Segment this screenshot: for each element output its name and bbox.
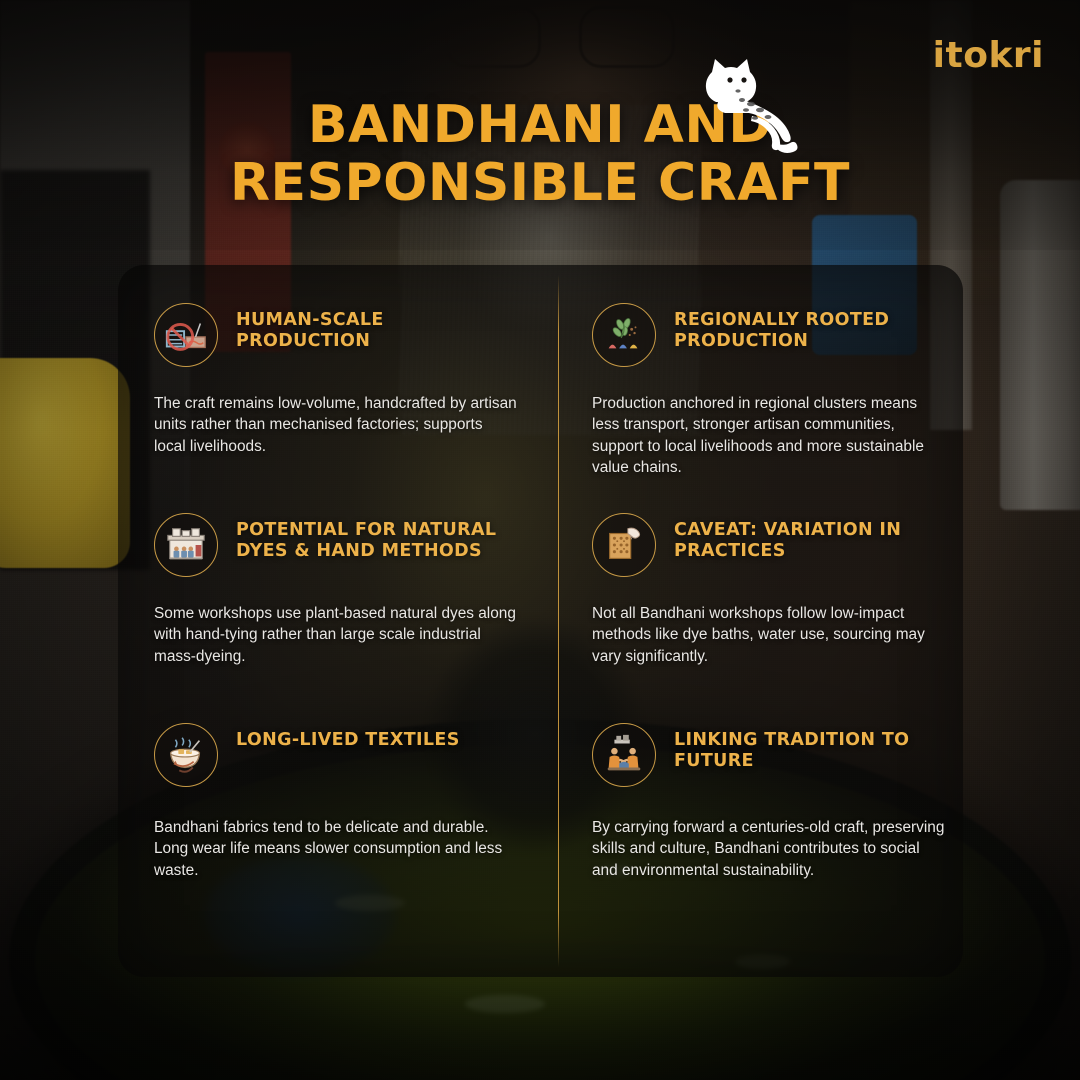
- page-title-line-2: RESPONSIBLE CRAFT: [0, 154, 1080, 212]
- no-factory-icon: [154, 303, 218, 367]
- hand-holding-dyed-fabric-icon: [592, 513, 656, 577]
- card-title: LINKING TRADITION TO FUTURE: [674, 730, 945, 773]
- brand-logo[interactable]: itokri: [933, 38, 1044, 74]
- card-body: Not all Bandhani workshops follow low-im…: [592, 603, 945, 667]
- card-body: The craft remains low-volume, handcrafte…: [154, 393, 518, 457]
- card-title: CAVEAT: VARIATION IN PRACTICES: [674, 520, 945, 563]
- artisan-workshop-building-icon: [154, 513, 218, 577]
- card-caveat-variation-in-practices: CAVEAT: VARIATION IN PRACTICES Not all B…: [548, 475, 963, 685]
- card-title: LONG-LIVED TEXTILES: [236, 730, 460, 751]
- content-panel: HUMAN-SCALE PRODUCTION The craft remains…: [118, 265, 963, 977]
- card-human-scale-production: HUMAN-SCALE PRODUCTION The craft remains…: [118, 265, 548, 475]
- page-title: BANDHANI AND RESPONSIBLE CRAFT: [0, 96, 1080, 212]
- card-long-lived-textiles: LONG-LIVED TEXTILES Bandhani fabrics ten…: [118, 685, 548, 977]
- card-body: Bandhani fabrics tend to be delicate and…: [154, 817, 518, 881]
- card-title: HUMAN-SCALE PRODUCTION: [236, 310, 518, 353]
- bg-yellow-tub: [0, 358, 130, 568]
- card-title: REGIONALLY ROOTED PRODUCTION: [674, 310, 945, 353]
- card-body: Some workshops use plant-based natural d…: [154, 603, 518, 667]
- natural-leaves-dye-powder-icon: [592, 303, 656, 367]
- infographic-canvas: itokri BANDHANI AND RESPONSIBLE CRAFT: [0, 0, 1080, 1080]
- card-natural-dyes-hand-methods: POTENTIAL FOR NATURAL DYES & HAND METHOD…: [118, 475, 548, 685]
- two-artisans-seated-icon: [592, 723, 656, 787]
- card-regionally-rooted-production: REGIONALLY ROOTED PRODUCTION Production …: [548, 265, 963, 475]
- brand-logo-text: itokri: [933, 35, 1044, 76]
- bg-artisan-glasses: [445, 0, 675, 76]
- card-linking-tradition-to-future: LINKING TRADITION TO FUTURE By carrying …: [548, 685, 963, 977]
- steaming-dye-pot-icon: [154, 723, 218, 787]
- bg-metal-tank: [1000, 180, 1080, 510]
- card-title: POTENTIAL FOR NATURAL DYES & HAND METHOD…: [236, 520, 518, 563]
- cat-silhouette-icon: [694, 58, 802, 154]
- card-body: Production anchored in regional clusters…: [592, 393, 945, 478]
- card-body: By carrying forward a centuries-old craf…: [592, 817, 945, 881]
